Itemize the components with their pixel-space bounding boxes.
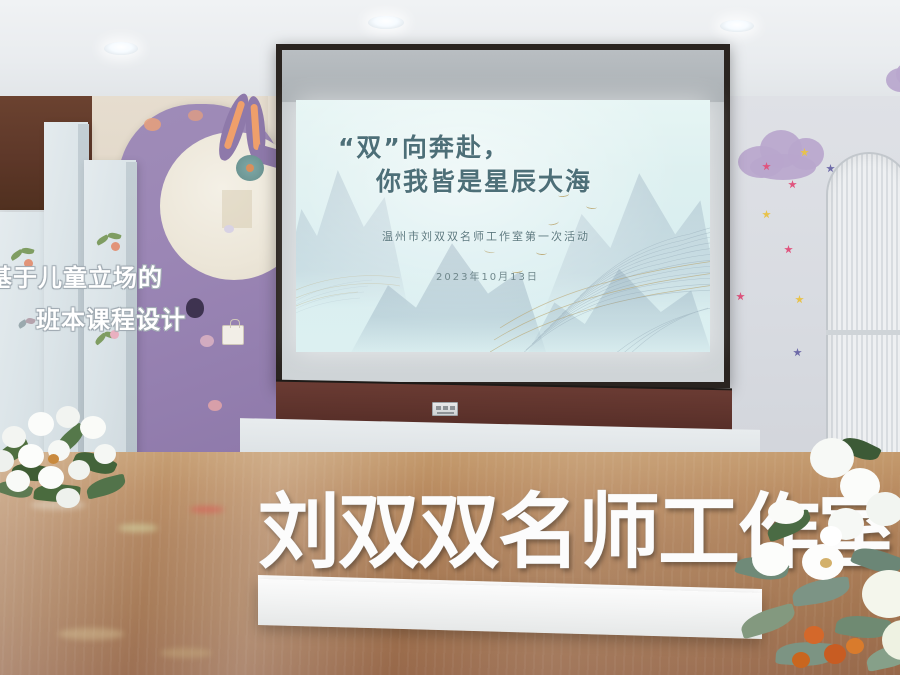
floor-reflection bbox=[190, 506, 224, 513]
floor-reflection bbox=[160, 648, 212, 658]
downlight-icon bbox=[720, 20, 754, 32]
floor-reflection bbox=[118, 524, 158, 532]
downlight-icon bbox=[104, 42, 138, 55]
backdrop-panel-line1: 基于儿童立场的 bbox=[0, 258, 163, 293]
wall-power-outlet[interactable] bbox=[432, 402, 458, 416]
left-flower-arrangement bbox=[0, 392, 150, 512]
downlight-icon bbox=[368, 16, 404, 29]
slide-title-line2: 你我皆是星辰大海 bbox=[376, 162, 592, 198]
right-flower-arrangement bbox=[736, 430, 900, 675]
slide-title-line1: “双”向奔赴， bbox=[338, 128, 510, 164]
projected-slide: “双”向奔赴， 你我皆是星辰大海 温州市刘双双名师工作室第一次活动 2023年1… bbox=[296, 100, 710, 352]
decor-dot bbox=[188, 110, 203, 121]
stage-letters: 刘双双名师工作室 bbox=[258, 480, 778, 590]
decor-bag-icon bbox=[222, 325, 244, 345]
decor-dot bbox=[200, 335, 214, 347]
arched-slatted-door[interactable] bbox=[826, 152, 900, 472]
projector-screen-top-band bbox=[282, 50, 724, 102]
decor-dot bbox=[224, 225, 234, 233]
conference-hall-photo: 基于儿童立场的 班本课程设计 bbox=[0, 0, 900, 675]
floor-reflection bbox=[58, 628, 124, 640]
decor-dot bbox=[144, 118, 161, 131]
moon-texture bbox=[222, 190, 252, 228]
backdrop-panel-line2: 班本课程设计 bbox=[36, 300, 186, 335]
door-rail bbox=[826, 330, 900, 335]
decor-shape bbox=[186, 298, 204, 318]
flower-icon bbox=[236, 155, 264, 181]
decor-heart-icon bbox=[208, 400, 222, 411]
slide-subtitle: 温州市刘双双名师工作室第一次活动 bbox=[382, 228, 590, 244]
slide-date: 2023年10月13日 bbox=[436, 268, 539, 283]
